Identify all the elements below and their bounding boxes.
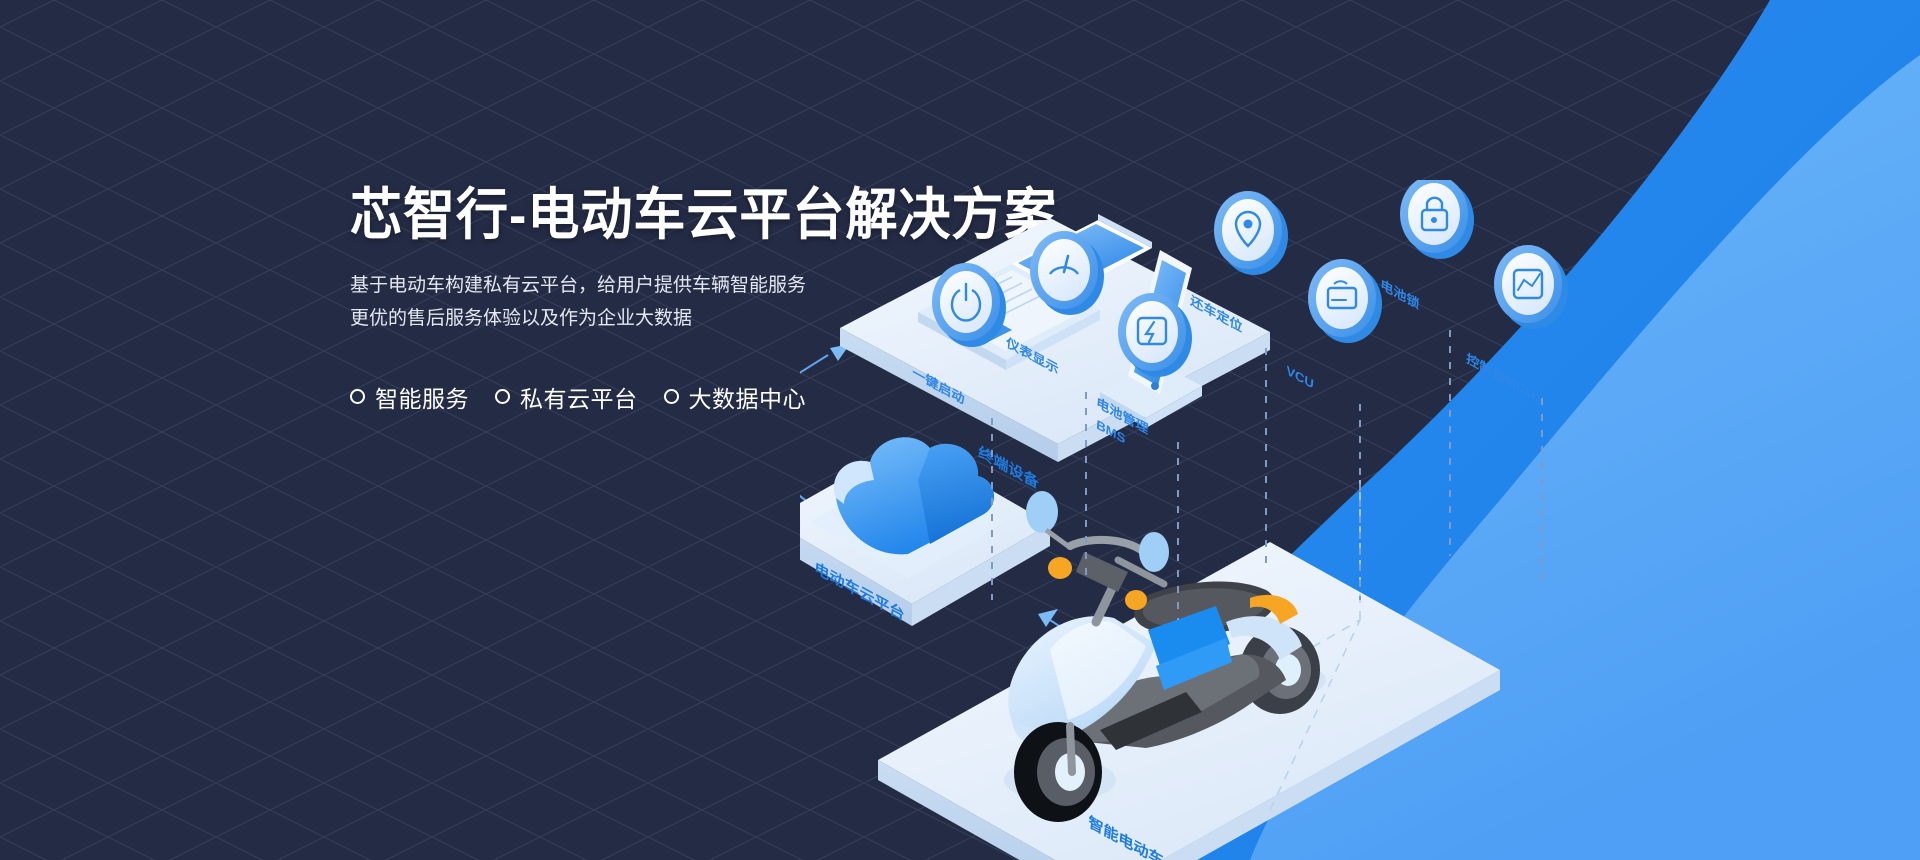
circle-bullet-icon bbox=[495, 389, 510, 404]
feature-item-smart-service: 智能服务 bbox=[350, 380, 469, 414]
chip-vcu[interactable]: VCU bbox=[1286, 259, 1382, 392]
solution-banner: 芯智行-电动车云平台解决方案 基于电动车构建私有云平台，给用户提供车辆智能服务 … bbox=[0, 0, 1920, 860]
circle-bullet-icon bbox=[664, 389, 679, 404]
connector-arrows bbox=[800, 355, 828, 510]
chip-battery-lock[interactable]: 电池锁 bbox=[1380, 180, 1474, 312]
chip-label: 电池锁 bbox=[1380, 276, 1421, 312]
feature-item-big-data: 大数据中心 bbox=[664, 380, 807, 414]
chip-label: 控制器MCU bbox=[1466, 350, 1536, 402]
feature-label: 私有云平台 bbox=[520, 380, 638, 414]
chip-controller-mcu[interactable]: 控制器MCU bbox=[1466, 245, 1568, 402]
isometric-illustration: 终端设备 电动车云平台 bbox=[800, 180, 1920, 860]
feature-label: 智能服务 bbox=[375, 380, 469, 414]
circle-bullet-icon bbox=[350, 389, 365, 404]
chip-return-location[interactable]: 还车定位 bbox=[1189, 191, 1288, 335]
front-wheel bbox=[1014, 722, 1102, 822]
feature-item-private-cloud: 私有云平台 bbox=[495, 380, 638, 414]
feature-label: 大数据中心 bbox=[689, 380, 807, 414]
chip-label: VCU bbox=[1286, 363, 1315, 392]
